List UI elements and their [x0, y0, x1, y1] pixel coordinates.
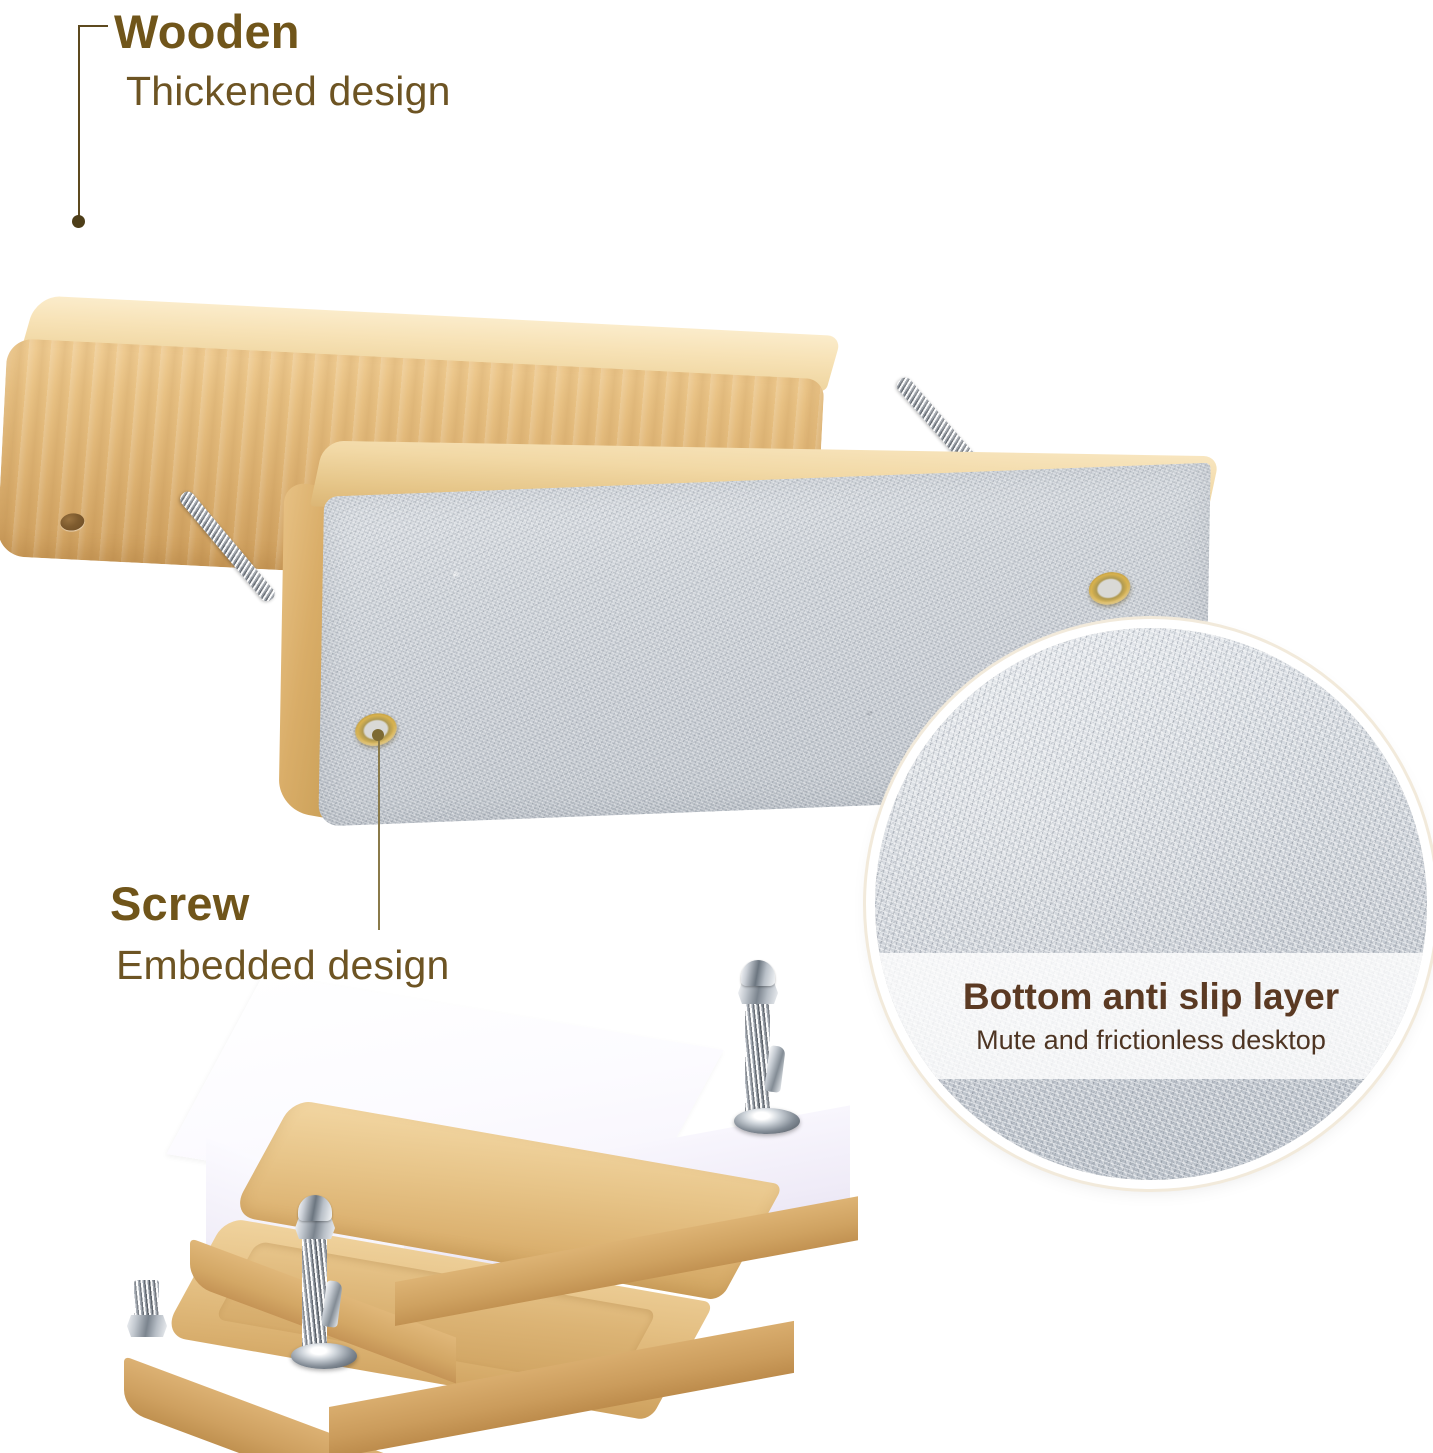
leader-dot-wooden	[72, 215, 85, 228]
leader-line-wooden-vertical	[78, 25, 80, 221]
infographic-canvas: Bottom anti slip layer Mute and friction…	[0, 0, 1433, 1453]
callout-wooden-subtitle: Thickened design	[126, 71, 451, 112]
product-press-assembly	[190, 960, 910, 1453]
thumb-screw-front-lower-nut	[127, 1315, 167, 1337]
callout-screw: Screw Embedded design	[110, 880, 450, 986]
screw-base-washer	[734, 1108, 800, 1134]
product-top-board	[0, 140, 850, 480]
leader-dot-screw	[372, 729, 384, 741]
screw-dome-cap	[741, 960, 775, 986]
felt-closeup-texture	[875, 628, 1427, 1180]
callout-screw-subtitle: Embedded design	[116, 945, 450, 986]
callout-screw-title: Screw	[110, 880, 450, 927]
leader-line-wooden-horizontal	[78, 25, 108, 27]
magnifier-caption-band: Bottom anti slip layer Mute and friction…	[875, 953, 1427, 1079]
callout-wooden: Wooden Thickened design	[114, 8, 451, 112]
magnifier-title: Bottom anti slip layer	[963, 978, 1339, 1017]
screw-dome-cap	[298, 1195, 332, 1221]
screw-shaft	[745, 1002, 770, 1114]
screw-base-washer	[291, 1343, 357, 1369]
screw-shaft	[302, 1237, 327, 1349]
felt-closeup-magnifier: Bottom anti slip layer Mute and friction…	[875, 628, 1427, 1180]
callout-wooden-title: Wooden	[114, 8, 451, 55]
screw-hole-left-icon	[59, 512, 85, 533]
magnifier-subtitle: Mute and frictionless desktop	[976, 1026, 1326, 1054]
